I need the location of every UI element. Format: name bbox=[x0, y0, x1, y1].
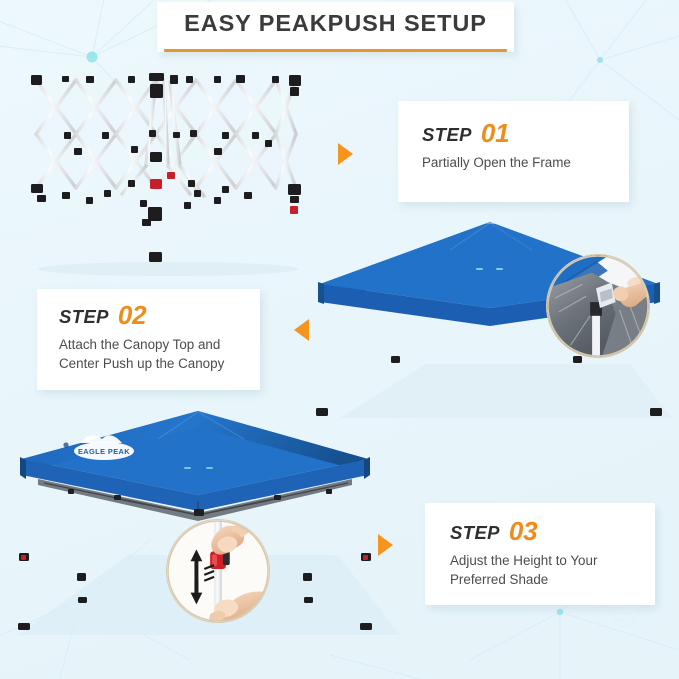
title-underline bbox=[164, 49, 507, 52]
step-card-03: STEP 03 Adjust the Height to Your Prefer… bbox=[425, 503, 655, 605]
canopy-frame-image bbox=[18, 62, 338, 282]
step-01-number: 01 bbox=[481, 122, 509, 144]
step-03-heading: STEP 03 bbox=[450, 520, 655, 542]
step-02-number: 02 bbox=[118, 304, 146, 326]
page-title: EASY PEAKPUSH SETUP bbox=[184, 12, 487, 42]
step-02-heading: STEP 02 bbox=[59, 304, 260, 326]
step-03-description: Adjust the Height to Your Preferred Shad… bbox=[450, 551, 655, 589]
step-01-word: STEP bbox=[422, 126, 472, 145]
title-card: EASY PEAKPUSH SETUP bbox=[157, 2, 514, 52]
step-card-02: STEP 02 Attach the Canopy Top and Center… bbox=[37, 289, 260, 390]
svg-text:EAGLE PEAK: EAGLE PEAK bbox=[78, 447, 130, 456]
setup-infographic: EAGLE PEAK bbox=[0, 0, 679, 679]
step-01-description: Partially Open the Frame bbox=[422, 153, 629, 172]
inset-attach-canopy-closeup bbox=[546, 254, 650, 358]
triangle-left-icon-step-02 bbox=[294, 319, 309, 341]
step-03-number: 03 bbox=[509, 520, 537, 542]
inset-height-adjust-closeup bbox=[166, 519, 270, 623]
triangle-right-icon-step-03 bbox=[378, 534, 393, 556]
step-card-01: STEP 01 Partially Open the Frame bbox=[398, 101, 629, 202]
step-01-heading: STEP 01 bbox=[422, 122, 629, 144]
hands-adjusting-leg-illustration bbox=[167, 520, 269, 622]
step-02-word: STEP bbox=[59, 308, 109, 327]
step-02-description: Attach the Canopy Top and Center Push up… bbox=[59, 335, 260, 373]
triangle-right-icon-step-01 bbox=[338, 143, 353, 165]
frame-illustration bbox=[18, 62, 338, 282]
hand-attaching-strap-illustration bbox=[547, 255, 649, 357]
step-03-word: STEP bbox=[450, 524, 500, 543]
